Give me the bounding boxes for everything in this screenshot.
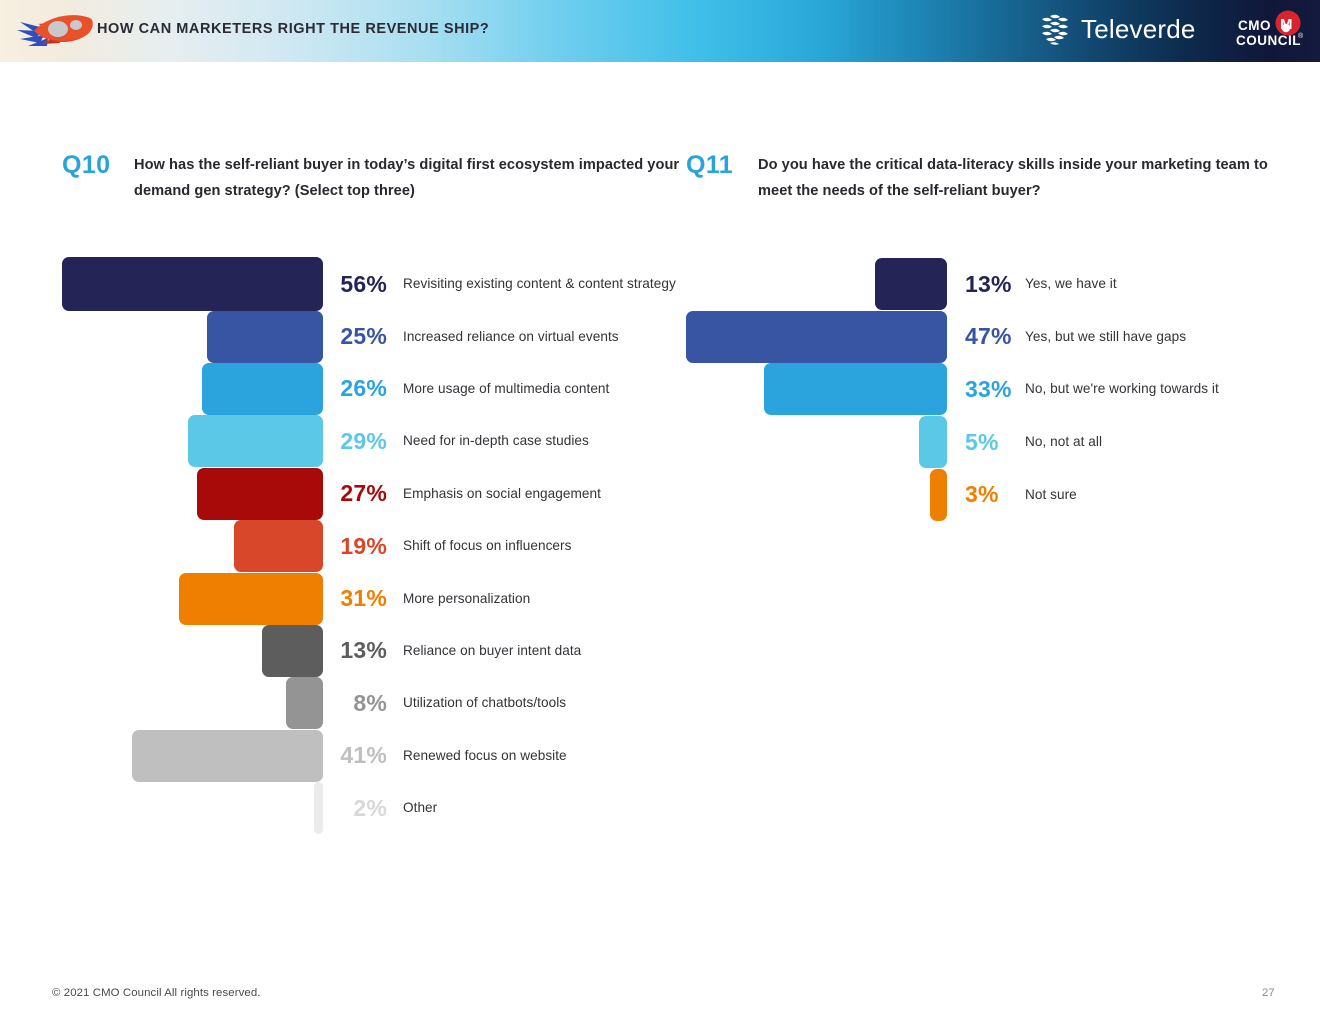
chart-bar-row: 26%More usage of multimedia content [0, 363, 690, 415]
slide-header: HOW CAN MARKETERS RIGHT THE REVENUE SHIP… [0, 0, 1320, 62]
chart-bar-row: 3%Not sure [686, 468, 1316, 521]
q11-bar-chart: 13%Yes, we have it47%Yes, but we still h… [686, 258, 1316, 521]
bar-value-label: 31% [323, 585, 387, 612]
bar-track [686, 468, 947, 521]
rocket-icon [14, 8, 98, 54]
bar-value-label: 33% [965, 376, 1025, 403]
bar-track [0, 310, 323, 362]
chart-bar-row: 31%More personalization [0, 572, 690, 624]
footer-page-number: 27 [1262, 987, 1275, 999]
bar-category-label: Shift of focus on influencers [403, 537, 693, 555]
bar [764, 363, 947, 415]
bar [197, 468, 323, 520]
bar [132, 730, 323, 782]
bar-track [0, 468, 323, 520]
q10-heading: Q10 How has the self-reliant buyer in to… [62, 152, 682, 204]
bar-category-label: No, but we're working towards it [1025, 380, 1295, 398]
bar-category-label: Emphasis on social engagement [403, 485, 693, 503]
bar-category-label: More personalization [403, 590, 693, 608]
bar-category-label: More usage of multimedia content [403, 380, 693, 398]
bar-category-label: Yes, we have it [1025, 275, 1295, 293]
q11-number: Q11 [686, 152, 758, 178]
bar-category-label: Reliance on buyer intent data [403, 642, 693, 660]
svg-text:®: ® [1298, 32, 1304, 40]
chart-bar-row: 33%No, but we're working towards it [686, 363, 1316, 416]
bar [875, 258, 947, 310]
televerde-wordmark: Televerde [1081, 14, 1196, 45]
bar-track [0, 363, 323, 415]
bar [234, 520, 323, 572]
bar-value-label: 13% [323, 637, 387, 664]
bar-value-label: 2% [323, 795, 387, 822]
bar [207, 311, 324, 363]
chart-bar-row: 2%Other [0, 782, 690, 834]
chart-bar-row: 47%Yes, but we still have gaps [686, 311, 1316, 364]
page-title: HOW CAN MARKETERS RIGHT THE REVENUE SHIP… [97, 21, 489, 37]
chart-bar-row: 5%No, not at all [686, 416, 1316, 469]
chart-bar-row: 56%Revisiting existing content & content… [0, 258, 690, 310]
bar [262, 625, 323, 677]
bar-value-label: 26% [323, 375, 387, 402]
bar [286, 677, 323, 729]
bar-category-label: Not sure [1025, 486, 1295, 504]
bar-track [0, 625, 323, 677]
bar-track [686, 416, 947, 469]
bar [188, 415, 323, 467]
bar-category-label: Revisiting existing content & content st… [403, 275, 693, 293]
bar-track [0, 258, 323, 310]
q11-question-text: Do you have the critical data-literacy s… [758, 152, 1286, 204]
cmo-council-logo: M CMO COUNCIL ® [1232, 10, 1308, 52]
bar-track [0, 520, 323, 572]
chart-bar-row: 13%Reliance on buyer intent data [0, 625, 690, 677]
bar-track [686, 258, 947, 311]
chart-bar-row: 19%Shift of focus on influencers [0, 520, 690, 572]
bar-category-label: No, not at all [1025, 433, 1295, 451]
bar-track [0, 677, 323, 729]
svg-text:COUNCIL: COUNCIL [1236, 33, 1301, 48]
bar-value-label: 19% [323, 533, 387, 560]
bar-category-label: Increased reliance on virtual events [403, 328, 693, 346]
televerde-mark-icon [1038, 12, 1072, 46]
q10-number: Q10 [62, 152, 134, 178]
bar-value-label: 47% [965, 323, 1025, 350]
bar [314, 782, 323, 834]
chart-bar-row: 8%Utilization of chatbots/tools [0, 677, 690, 729]
slide-page: HOW CAN MARKETERS RIGHT THE REVENUE SHIP… [0, 0, 1320, 1020]
bar [62, 257, 323, 311]
bar-category-label: Renewed focus on website [403, 747, 693, 765]
q10-question-text: How has the self-reliant buyer in today’… [134, 152, 682, 204]
bar-track [686, 311, 947, 364]
bar-category-label: Yes, but we still have gaps [1025, 328, 1295, 346]
bar-category-label: Utilization of chatbots/tools [403, 694, 693, 712]
chart-bar-row: 29%Need for in-depth case studies [0, 415, 690, 467]
bar-value-label: 8% [323, 690, 387, 717]
q11-heading: Q11 Do you have the critical data-litera… [686, 152, 1286, 204]
bar-track [0, 782, 323, 834]
bar-value-label: 25% [323, 323, 387, 350]
bar-value-label: 13% [965, 271, 1025, 298]
chart-bar-row: 27%Emphasis on social engagement [0, 468, 690, 520]
bar [202, 363, 323, 415]
bar-value-label: 56% [323, 271, 387, 298]
bar [919, 416, 947, 468]
chart-bar-row: 41%Renewed focus on website [0, 730, 690, 782]
bar-value-label: 41% [323, 742, 387, 769]
bar-value-label: 3% [965, 481, 1025, 508]
bar [686, 311, 947, 363]
chart-bar-row: 13%Yes, we have it [686, 258, 1316, 311]
bar [930, 469, 947, 521]
bar-track [0, 730, 323, 782]
bar-track [0, 415, 323, 467]
bar-category-label: Other [403, 799, 693, 817]
q10-bar-chart: 56%Revisiting existing content & content… [0, 258, 690, 834]
bar-value-label: 27% [323, 480, 387, 507]
chart-bar-row: 25%Increased reliance on virtual events [0, 310, 690, 362]
footer-copyright: © 2021 CMO Council All rights reserved. [52, 987, 261, 999]
bar-track [0, 572, 323, 624]
bar-track [686, 363, 947, 416]
televerde-logo: Televerde [1038, 12, 1196, 46]
bar-category-label: Need for in-depth case studies [403, 432, 693, 450]
svg-text:CMO: CMO [1238, 18, 1271, 33]
bar [179, 573, 323, 625]
bar-value-label: 5% [965, 429, 1025, 456]
bar-value-label: 29% [323, 428, 387, 455]
